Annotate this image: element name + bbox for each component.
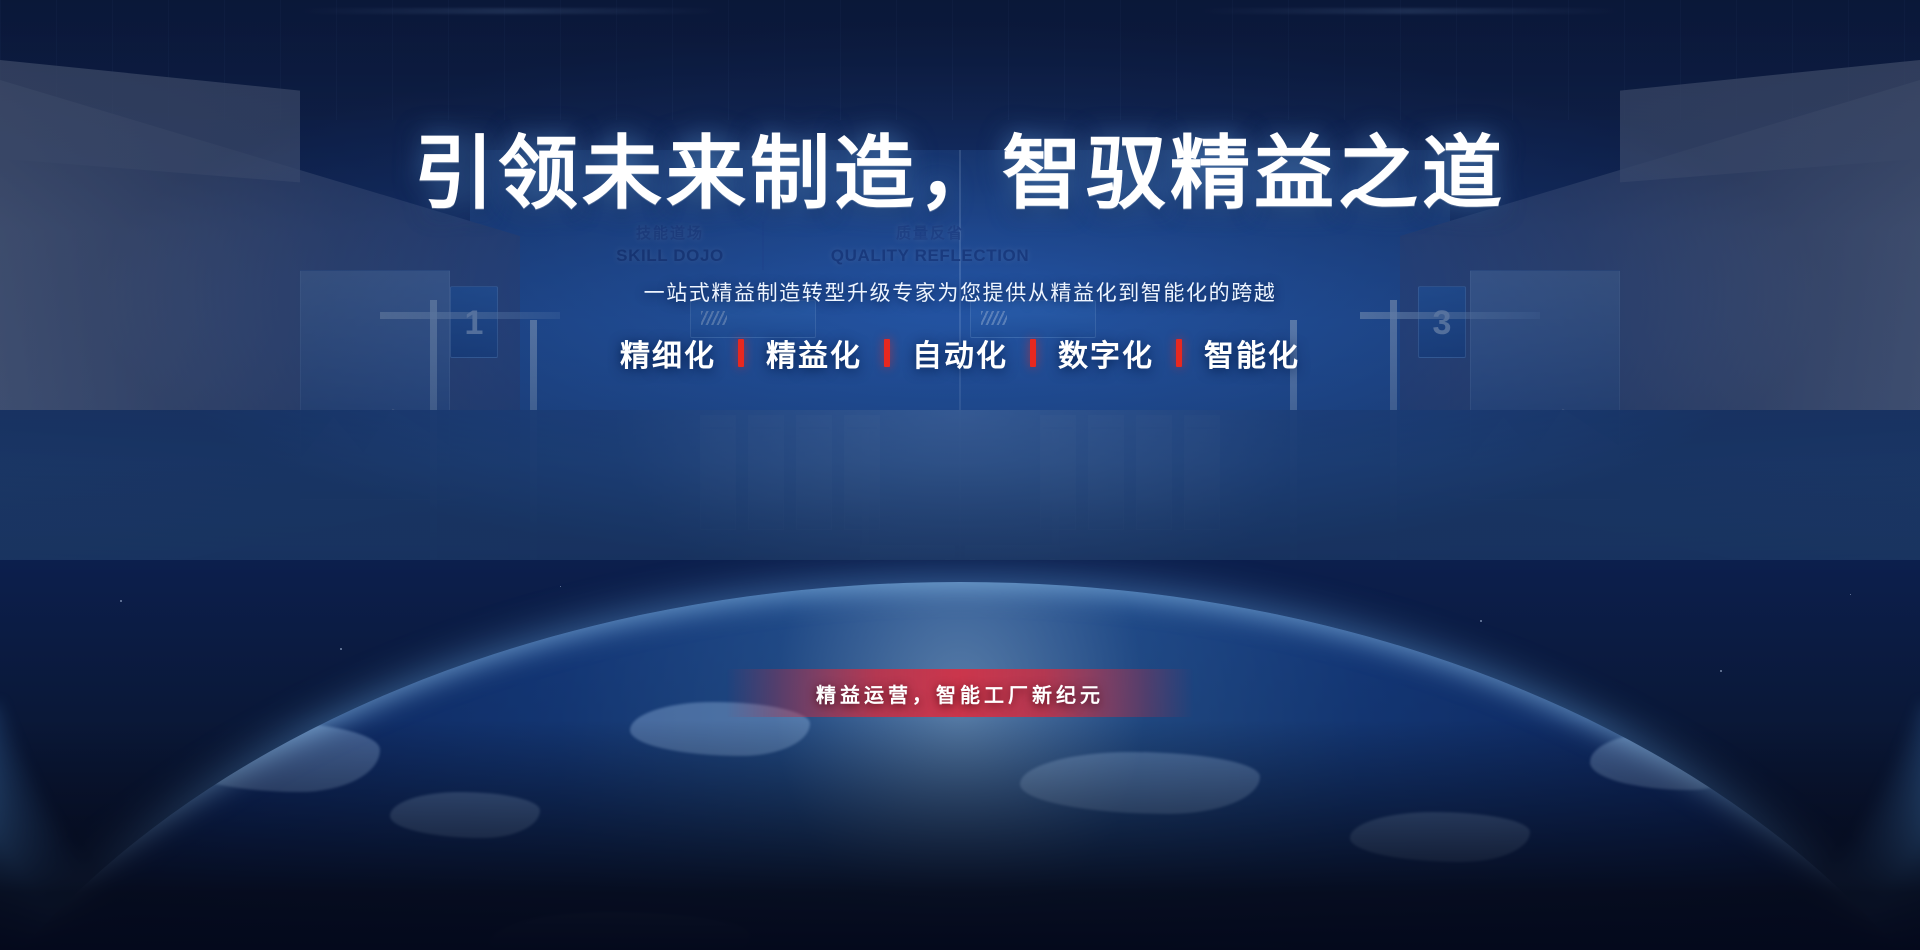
page-title: 引领未来制造，智驭精益之道	[414, 132, 1506, 217]
keyword-item: 智能化	[1182, 331, 1322, 375]
keyword-item: 自动化	[890, 331, 1030, 375]
keyword-item: 数字化	[1036, 331, 1176, 375]
keyword-item: 精细化	[598, 331, 738, 375]
hero-banner: 技能道场 SKILL DOJO 质量反省 QUALITY REFLECTION …	[0, 0, 1920, 950]
keyword-list: 精细化 精益化 自动化 数字化 智能化	[598, 331, 1322, 375]
hero-content: 引领未来制造，智驭精益之道 一站式精益制造转型升级专家为您提供从精益化到智能化的…	[0, 0, 1920, 950]
tagline-badge-text: 精益运营，智能工厂新纪元	[816, 679, 1104, 708]
tagline-badge: 精益运营，智能工厂新纪元	[726, 669, 1194, 717]
keyword-item: 精益化	[744, 331, 884, 375]
hero-subtitle: 一站式精益制造转型升级专家为您提供从精益化到智能化的跨越	[644, 277, 1277, 307]
tagline-badge-wrapper: 精益运营，智能工厂新纪元	[726, 669, 1194, 717]
